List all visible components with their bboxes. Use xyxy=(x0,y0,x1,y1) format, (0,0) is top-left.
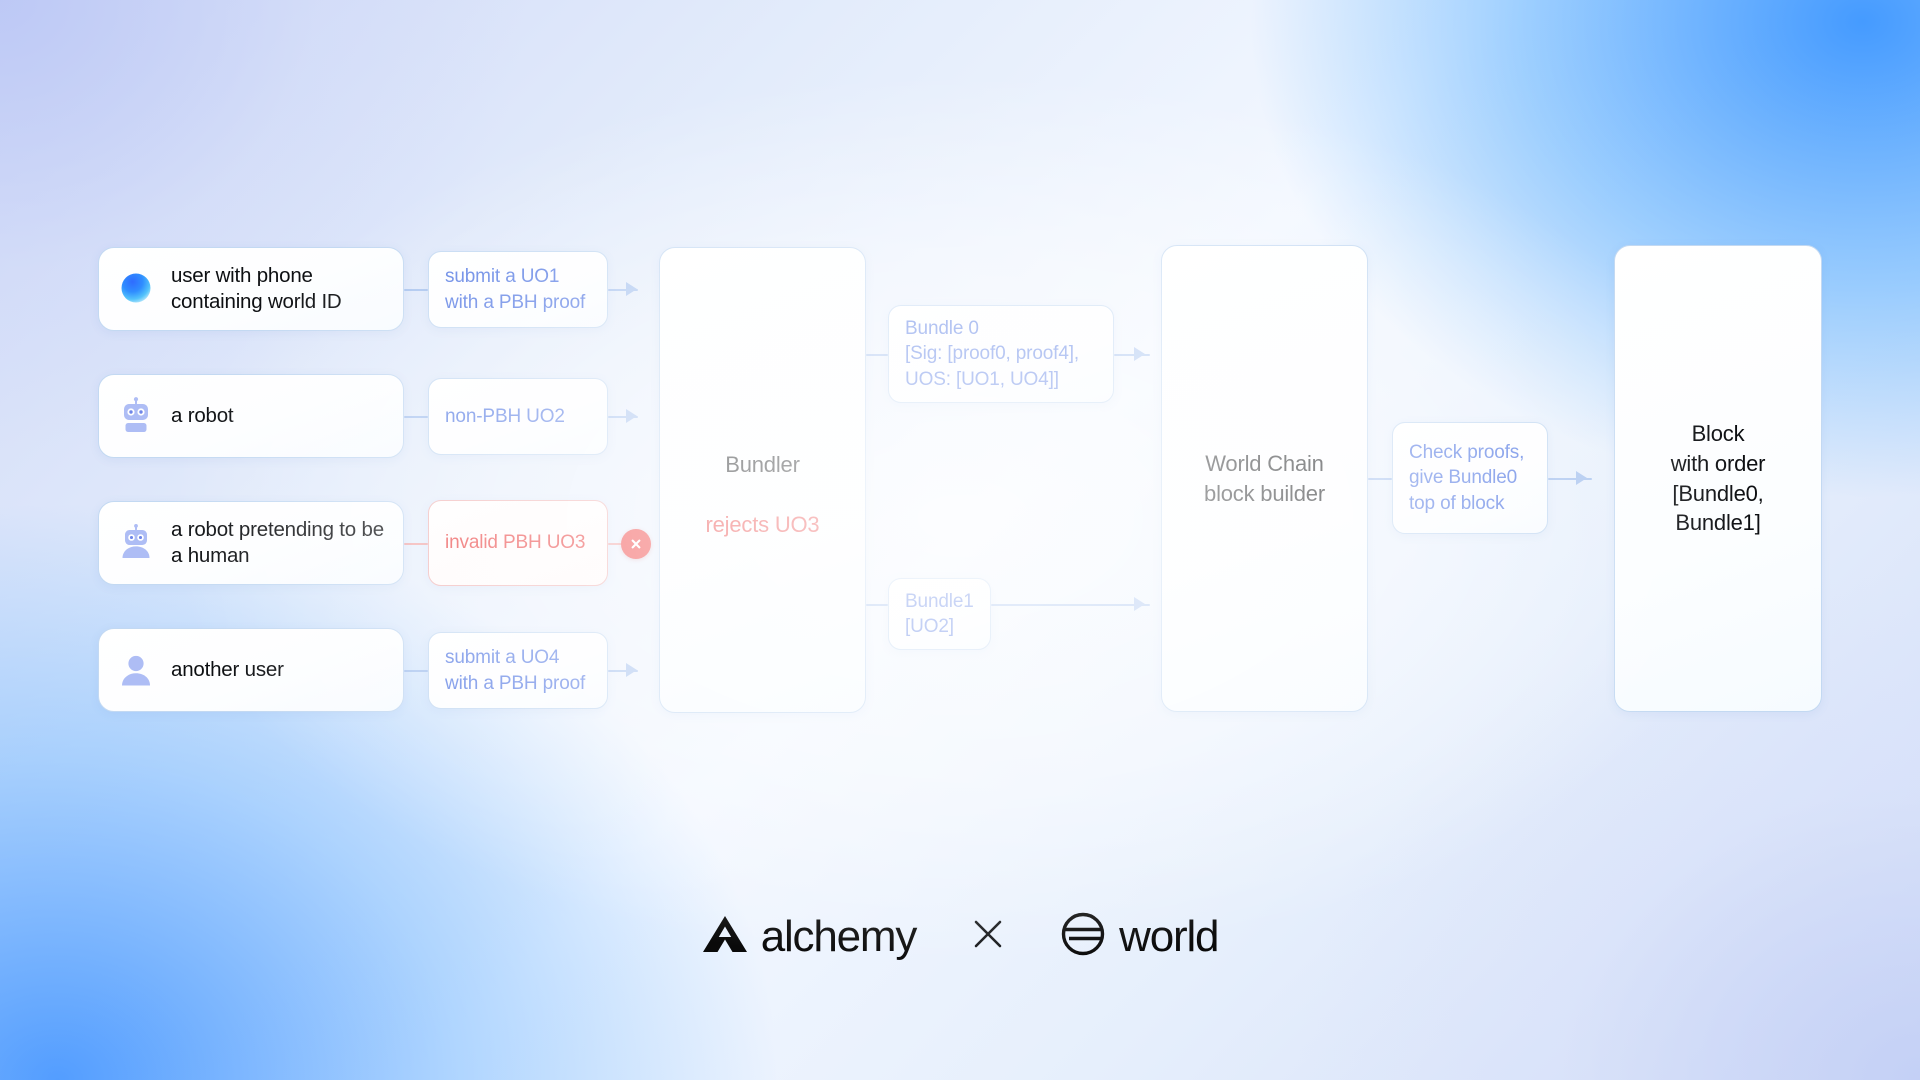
arrow-action1-bundler xyxy=(626,282,637,296)
alchemy-logo-icon xyxy=(702,914,748,959)
action-label: submit a UO4 with a PBH proof xyxy=(445,645,591,696)
block-builder-label: World Chain block builder xyxy=(1204,449,1325,509)
action-label: invalid PBH UO3 xyxy=(445,530,591,555)
alchemy-wordmark: alchemy xyxy=(761,912,916,962)
alchemy-logo-lockup[interactable]: alchemy xyxy=(702,912,916,962)
connector-bundle1-builder xyxy=(991,604,1150,606)
action-label: non-PBH UO2 xyxy=(445,404,591,429)
times-icon xyxy=(968,914,1008,959)
arrow-note-block xyxy=(1576,471,1587,485)
arrow-action2-bundler xyxy=(626,409,637,423)
connector-action3-reject xyxy=(608,543,622,545)
reject-x-icon xyxy=(621,529,651,559)
world-logo-icon xyxy=(1060,911,1106,962)
action-label: submit a UO1 with a PBH proof xyxy=(445,264,591,315)
actor-label: a robot xyxy=(171,403,233,429)
action-card-submit-uo1[interactable]: submit a UO1 with a PBH proof xyxy=(428,251,608,328)
action-card-invalid-pbh-uo3[interactable]: invalid PBH UO3 xyxy=(428,500,608,586)
action-card-non-pbh-uo2[interactable]: non-PBH UO2 xyxy=(428,378,608,455)
bundle-0-label: Bundle 0 [Sig: [proof0, proof4], UOS: [U… xyxy=(905,316,1097,392)
bundler-status: rejects UO3 xyxy=(706,512,820,537)
actor-label: another user xyxy=(171,657,284,683)
footer-logos: alchemy world xyxy=(0,911,1920,962)
actor-card-user-world-id[interactable]: user with phone containing world ID xyxy=(98,247,404,331)
actor-label: user with phone containing world ID xyxy=(171,263,385,315)
world-id-orb-icon xyxy=(117,270,155,308)
bundler-box[interactable]: Bundler rejects UO3 xyxy=(659,247,866,713)
connector-actor3-action3 xyxy=(404,543,428,545)
connector-actor1-action1 xyxy=(404,289,428,291)
connector-actor4-action4 xyxy=(404,670,428,672)
bundler-text: Bundler rejects UO3 xyxy=(706,420,820,540)
connector-bundler-bundle1 xyxy=(866,604,888,606)
bundler-title: Bundler xyxy=(725,452,799,477)
bundle-0-box[interactable]: Bundle 0 [Sig: [proof0, proof4], UOS: [U… xyxy=(888,305,1114,403)
connector-bundler-bundle0 xyxy=(866,354,888,356)
world-chain-block-builder-box[interactable]: World Chain block builder xyxy=(1161,245,1368,712)
world-wordmark: world xyxy=(1119,912,1218,962)
bundle-1-label: Bundle1 [UO2] xyxy=(905,589,974,640)
builder-note-box[interactable]: Check proofs, give Bundle0 top of block xyxy=(1392,422,1548,534)
person-icon xyxy=(117,651,155,689)
action-card-submit-uo4[interactable]: submit a UO4 with a PBH proof xyxy=(428,632,608,709)
robot-icon xyxy=(117,397,155,435)
actor-card-another-user[interactable]: another user xyxy=(98,628,404,712)
final-block-label: Block with order [Bundle0, Bundle1] xyxy=(1671,419,1766,539)
actor-card-robot[interactable]: a robot xyxy=(98,374,404,458)
arrow-bundle0-builder xyxy=(1134,347,1145,361)
connector-builder-note xyxy=(1368,478,1392,480)
actor-label: a robot pretending to be a human xyxy=(171,517,385,569)
arrow-action4-bundler xyxy=(626,663,637,677)
diagram-canvas: user with phone containing world ID a ro… xyxy=(0,0,1920,1080)
arrow-bundle1-builder xyxy=(1134,597,1145,611)
robot-pretending-human-icon xyxy=(117,524,155,562)
bundle-1-box[interactable]: Bundle1 [UO2] xyxy=(888,578,991,650)
connector-actor2-action2 xyxy=(404,416,428,418)
world-logo-lockup[interactable]: world xyxy=(1060,911,1218,962)
final-block-box[interactable]: Block with order [Bundle0, Bundle1] xyxy=(1614,245,1822,712)
actor-card-robot-pretending-human[interactable]: a robot pretending to be a human xyxy=(98,501,404,585)
builder-note-label: Check proofs, give Bundle0 top of block xyxy=(1409,440,1531,516)
